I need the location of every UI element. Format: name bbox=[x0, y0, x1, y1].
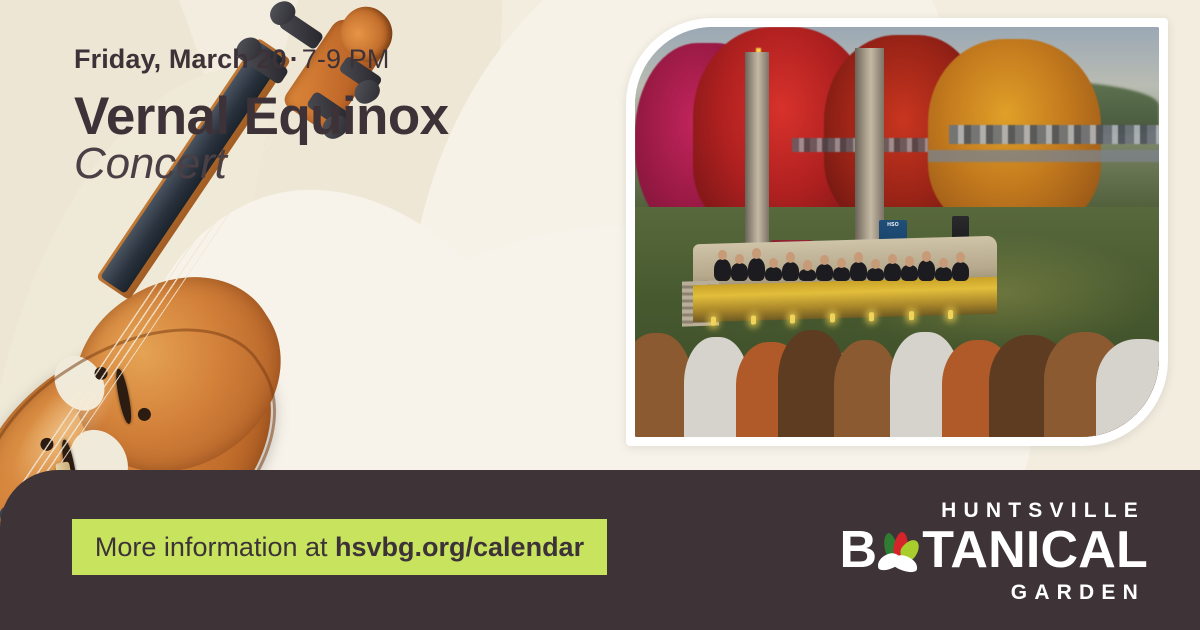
photo-audience-member bbox=[1096, 339, 1159, 437]
cta-url: hsvbg.org/calendar bbox=[335, 532, 584, 562]
photo-musician bbox=[714, 259, 731, 281]
photo-musician bbox=[952, 262, 969, 282]
photo-musician bbox=[833, 267, 850, 281]
photo-audience-member bbox=[834, 340, 898, 437]
more-information-banner[interactable]: More information at hsvbg.org/calendar bbox=[72, 519, 607, 575]
photo-parked-cars bbox=[949, 125, 1159, 143]
photo-musician-head bbox=[752, 248, 761, 258]
photo-musician-head bbox=[803, 260, 812, 270]
photo-musician bbox=[884, 263, 901, 281]
photo-musician-head bbox=[786, 252, 795, 262]
photo-musician bbox=[799, 269, 816, 281]
cta-prefix: More information at bbox=[95, 532, 335, 562]
photo-musician-head bbox=[735, 254, 744, 264]
photo-orchestra bbox=[708, 216, 991, 282]
event-title: Vernal Equinox bbox=[74, 89, 594, 144]
photo-musician bbox=[748, 258, 765, 282]
photo-stone-column bbox=[855, 48, 884, 241]
logo-line-huntsville: HUNTSVILLE bbox=[840, 500, 1149, 521]
photo-musician-head bbox=[905, 256, 914, 266]
photo-musician bbox=[850, 262, 867, 282]
photo-musician-head bbox=[769, 258, 778, 268]
photo-musician-head bbox=[888, 254, 897, 264]
photo-musician-head bbox=[956, 252, 965, 262]
photo-musician bbox=[918, 260, 935, 281]
logo-line-garden: GARDEN bbox=[840, 582, 1149, 603]
event-date: Friday, March 20 bbox=[74, 44, 287, 74]
headline-block: Friday, March 20·7-9 PM Vernal Equinox C… bbox=[74, 44, 594, 186]
concert-photo-frame: HSO bbox=[626, 18, 1168, 446]
concert-photo: HSO bbox=[635, 27, 1159, 437]
photo-road bbox=[928, 150, 1159, 162]
photo-musician-head bbox=[837, 258, 846, 268]
photo-musician bbox=[901, 265, 918, 281]
photo-musician bbox=[935, 267, 952, 281]
photo-musician-head bbox=[854, 252, 863, 262]
huntsville-botanical-garden-logo: HUNTSVILLE B TANICAL GARDEN bbox=[840, 500, 1149, 603]
cta-text: More information at hsvbg.org/calendar bbox=[95, 532, 584, 563]
photo-audience bbox=[635, 314, 1159, 437]
photo-musician bbox=[867, 268, 884, 281]
photo-musician-head bbox=[922, 251, 931, 261]
event-promo-poster: Friday, March 20·7-9 PM Vernal Equinox C… bbox=[0, 0, 1200, 630]
date-time-separator: · bbox=[287, 44, 302, 74]
photo-musician-head bbox=[871, 259, 880, 269]
photo-musician bbox=[782, 262, 799, 282]
event-time: 7-9 PM bbox=[302, 44, 390, 74]
logo-line-botanical: B TANICAL bbox=[840, 524, 1149, 577]
photo-musician bbox=[816, 264, 833, 281]
leaf-flower-mark-icon bbox=[877, 532, 921, 576]
photo-musician bbox=[731, 263, 748, 281]
event-subtitle: Concert bbox=[74, 142, 594, 186]
photo-musician bbox=[765, 267, 782, 281]
photo-musician-head bbox=[939, 258, 948, 268]
photo-musician-head bbox=[718, 250, 727, 260]
logo-letters-tanical: TANICAL bbox=[922, 524, 1148, 577]
event-date-line: Friday, March 20·7-9 PM bbox=[74, 44, 594, 75]
logo-letter-b: B bbox=[840, 524, 878, 577]
